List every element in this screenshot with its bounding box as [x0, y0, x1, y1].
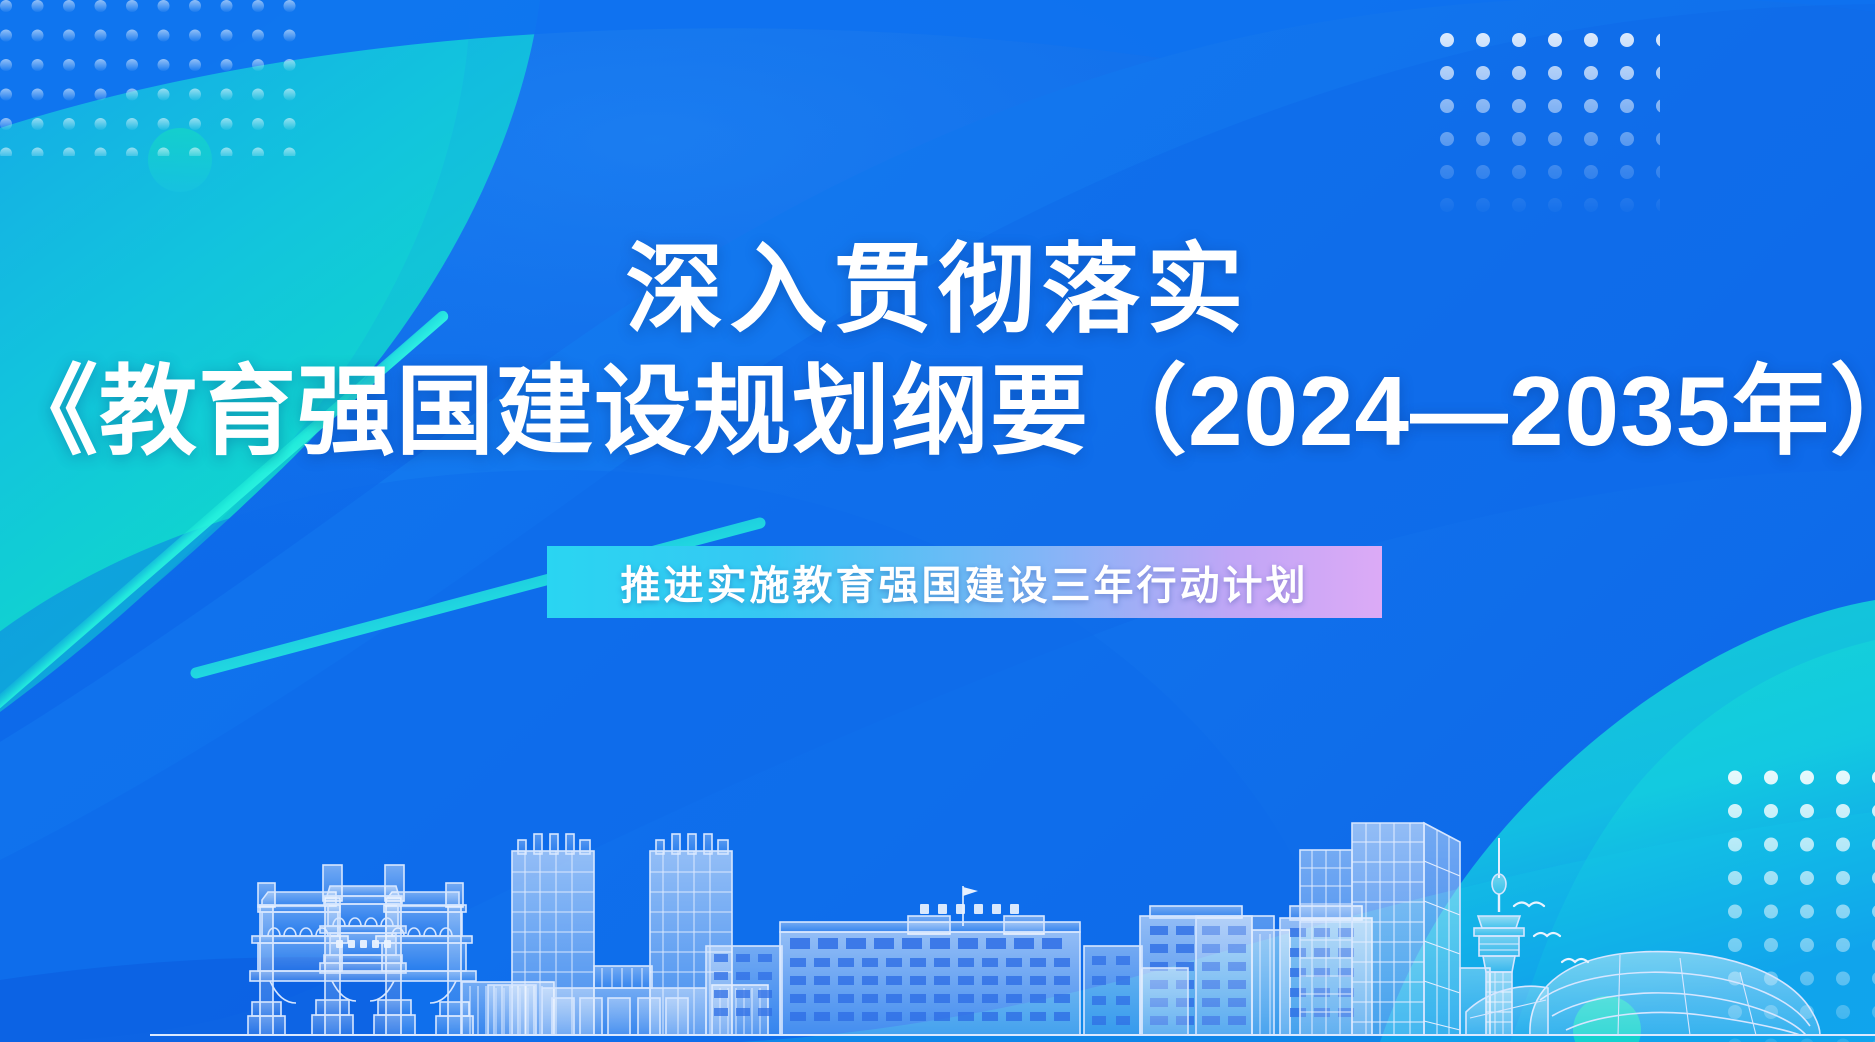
building-name-label: [920, 904, 1019, 914]
stadium-arena: [1530, 952, 1820, 1035]
subtitle-text: 推进实施教育强国建设三年行动计划: [621, 553, 1309, 611]
title-block: 深入贯彻落实 《教育强国建设规划纲要（2024—2035年）》: [0, 238, 1875, 471]
subtitle-ribbon: 推进实施教育强国建设三年行动计划: [547, 546, 1382, 618]
page-title-line-2: 《教育强国建设规划纲要（2024—2035年）》: [0, 352, 1875, 472]
far-left-building: [1140, 968, 1188, 1035]
modern-skyscraper: [1300, 823, 1490, 1035]
university-main-building: [706, 886, 1080, 1035]
paifang-archway: [232, 865, 500, 1035]
city-skyline-illustration: [0, 0, 1875, 1042]
birds-icon: [1514, 903, 1588, 963]
page-title-line-1: 深入贯彻落实: [0, 238, 1875, 342]
poster-banner: 深入贯彻落实 《教育强国建设规划纲要（2024—2035年）》 推进实施教育强国…: [0, 0, 1875, 1042]
